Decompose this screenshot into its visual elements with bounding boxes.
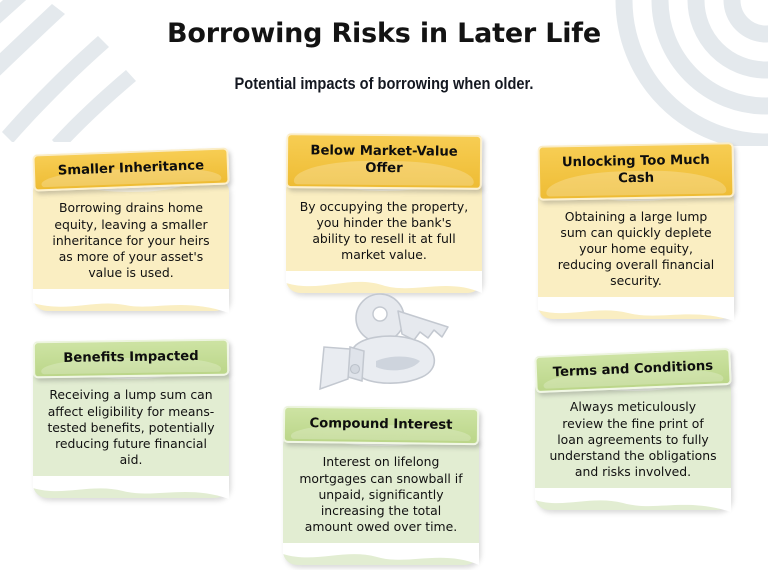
risk-card-header: Benefits Impacted [33,339,230,379]
risk-card[interactable]: Unlocking Too Much Cash Obtaining a larg… [538,144,734,319]
risk-card-title: Smaller Inheritance [58,158,205,178]
risk-card-title: Below Market-Value Offer [310,143,457,176]
risk-card-description: By occupying the property, you hinder th… [300,199,468,262]
hand-holding-key-icon [306,289,478,401]
torn-paper-edge-icon [283,543,479,567]
risk-card[interactable]: Benefits Impacted Receiving a lump sum c… [33,340,229,498]
torn-paper-edge-icon [33,476,229,500]
risk-card[interactable]: Below Market-Value Offer By occupying th… [286,134,482,293]
page-header: Borrowing Risks in Later Life Potential … [0,0,768,94]
torn-paper-edge-icon [535,488,731,512]
risk-card-title: Compound Interest [309,416,452,433]
risk-card-description: Always meticulously review the fine prin… [549,399,716,479]
risk-card-title: Unlocking Too Much Cash [562,153,710,187]
page-title: Borrowing Risks in Later Life [0,18,768,49]
torn-paper-edge-icon [33,289,229,313]
risk-card-body: By occupying the property, you hinder th… [286,180,482,294]
risk-card-title: Terms and Conditions [553,359,714,381]
risk-card-description: Receiving a lump sum can affect eligibil… [47,387,214,467]
torn-paper-edge-icon [286,271,482,295]
risk-card-description: Borrowing drains home equity, leaving a … [52,200,209,280]
risk-card-description: Interest on lifelong mortgages can snowb… [299,454,462,534]
risk-card-header: Smaller Inheritance [32,147,229,192]
risk-card-body: Borrowing drains home equity, leaving a … [33,181,229,311]
risk-card-header: Compound Interest [283,406,479,446]
risk-card-body: Receiving a lump sum can affect eligibil… [33,368,229,498]
risk-card-body: Interest on lifelong mortgages can snowb… [283,435,479,565]
risk-card-body: Always meticulously review the fine prin… [535,380,731,510]
risk-card-body: Obtaining a large lump sum can quickly d… [538,190,734,320]
risk-card-title: Benefits Impacted [63,349,199,366]
torn-paper-edge-icon [538,297,734,321]
risk-card[interactable]: Smaller Inheritance Borrowing drains hom… [33,151,229,311]
risk-card[interactable]: Compound Interest Interest on lifelong m… [283,407,479,565]
risk-card-description: Obtaining a large lump sum can quickly d… [558,209,715,289]
risk-card[interactable]: Terms and Conditions Always meticulously… [535,352,731,510]
page-subtitle: Potential impacts of borrowing when olde… [54,74,714,94]
risk-card-header: Unlocking Too Much Cash [538,142,735,200]
risk-card-header: Below Market-Value Offer [286,133,482,190]
